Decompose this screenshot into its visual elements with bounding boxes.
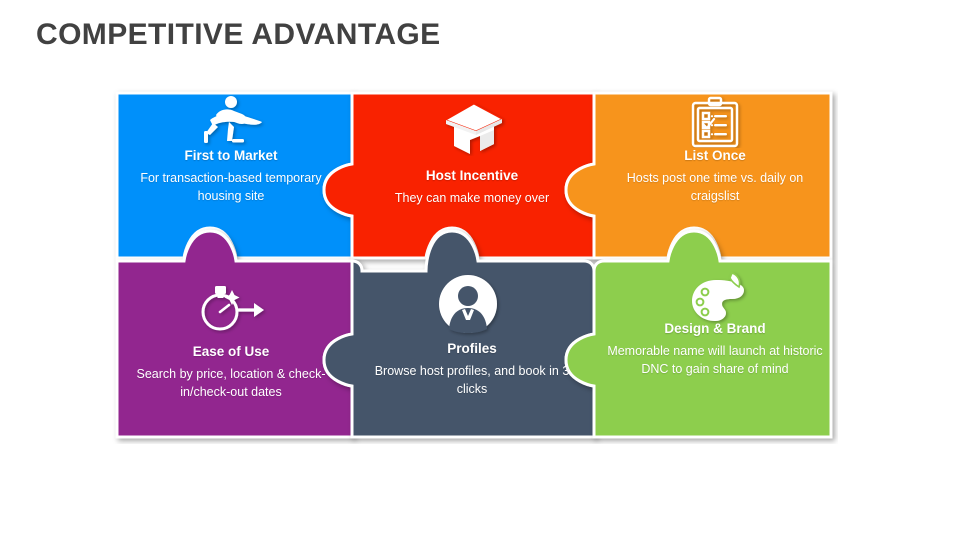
page-title: COMPETITIVE ADVANTAGE <box>36 18 441 52</box>
puzzle-diagram: First to Market For transaction-based te… <box>110 86 838 444</box>
puzzle-piece-profiles[interactable] <box>324 231 594 437</box>
puzzle-piece-ease-of-use[interactable] <box>117 231 352 437</box>
puzzle-piece-design-and-brand[interactable] <box>566 231 831 437</box>
puzzle-piece-first-to-market[interactable] <box>117 93 352 258</box>
